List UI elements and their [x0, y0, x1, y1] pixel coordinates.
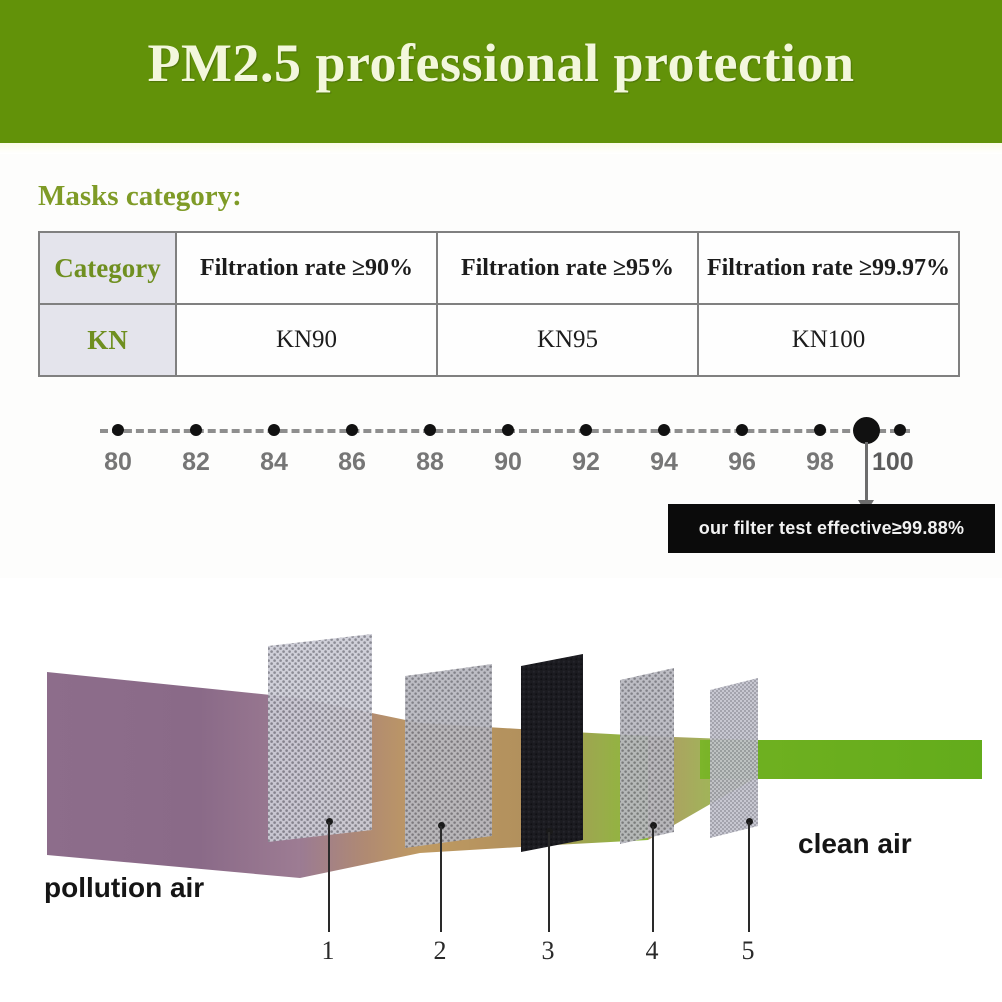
scale-label-100: 100: [872, 448, 914, 477]
row-header-kn: KN: [39, 304, 176, 376]
scale-label-84: 84: [260, 448, 288, 477]
layer-label-4: 4: [646, 936, 659, 966]
scale-dot-96: [736, 424, 748, 436]
table-row: KN KN90 KN95 KN100: [39, 304, 959, 376]
scale-label-80: 80: [104, 448, 132, 477]
callout-text: our filter test effective≥99.88%: [699, 518, 964, 539]
pollution-air-label: pollution air: [44, 872, 204, 904]
scale-label-88: 88: [416, 448, 444, 477]
scale-label-94: 94: [650, 448, 678, 477]
filter-layer-5: [710, 678, 758, 838]
filtration-scale: 80 82 84 86 88 90 92 94 96 98 100: [0, 400, 1002, 505]
scale-dot-92: [580, 424, 592, 436]
cell-rate-kn95: Filtration rate ≥95%: [437, 232, 698, 304]
scale-dot-100: [894, 424, 906, 436]
scale-dot-86: [346, 424, 358, 436]
layer-label-3: 3: [542, 936, 555, 966]
callout-arrow-stem: [865, 442, 868, 504]
scale-dot-highlight: [853, 417, 880, 444]
scale-label-82: 82: [182, 448, 210, 477]
header-banner: PM2.5 professional protection: [0, 0, 1002, 143]
layer-label-5: 5: [742, 936, 755, 966]
scale-dot-82: [190, 424, 202, 436]
row-header-category: Category: [39, 232, 176, 304]
scale-dot-84: [268, 424, 280, 436]
scale-label-90: 90: [494, 448, 522, 477]
filter-layer-4: [620, 668, 674, 844]
scale-dot-80: [112, 424, 124, 436]
leader-line-5: [748, 822, 750, 932]
filter-layer-1: [268, 634, 372, 842]
scale-dot-90: [502, 424, 514, 436]
scale-label-96: 96: [728, 448, 756, 477]
airflow-graphic: [0, 578, 1002, 1002]
masks-category-table: Category Filtration rate ≥90% Filtration…: [38, 231, 960, 377]
filter-layers-diagram: 1 2 3 4 5: [0, 578, 1002, 1002]
masks-category-label: Masks category:: [38, 180, 242, 213]
page-title: PM2.5 professional protection: [0, 32, 1002, 94]
clean-air-label: clean air: [798, 828, 912, 860]
table-row: Category Filtration rate ≥90% Filtration…: [39, 232, 959, 304]
layer-label-1: 1: [322, 936, 335, 966]
scale-label-92: 92: [572, 448, 600, 477]
infographic-page: PM2.5 professional protection Masks cate…: [0, 0, 1002, 1002]
cell-rate-kn90: Filtration rate ≥90%: [176, 232, 437, 304]
filter-test-callout: our filter test effective≥99.88%: [668, 504, 995, 553]
filter-layer-2: [405, 664, 492, 848]
leader-line-2: [440, 826, 442, 932]
cell-kn90: KN90: [176, 304, 437, 376]
cell-kn95: KN95: [437, 304, 698, 376]
leader-line-3: [548, 832, 550, 932]
header-underglow: [0, 143, 1002, 154]
layer-label-2: 2: [434, 936, 447, 966]
scale-dot-88: [424, 424, 436, 436]
cell-kn100: KN100: [698, 304, 959, 376]
pollution-air-beam: [47, 672, 300, 878]
cell-rate-kn100: Filtration rate ≥99.97%: [698, 232, 959, 304]
leader-line-4: [652, 826, 654, 932]
scale-label-86: 86: [338, 448, 366, 477]
scale-dot-98: [814, 424, 826, 436]
scale-dot-94: [658, 424, 670, 436]
scale-label-98: 98: [806, 448, 834, 477]
filter-layer-3: [521, 654, 583, 852]
leader-line-1: [328, 822, 330, 932]
